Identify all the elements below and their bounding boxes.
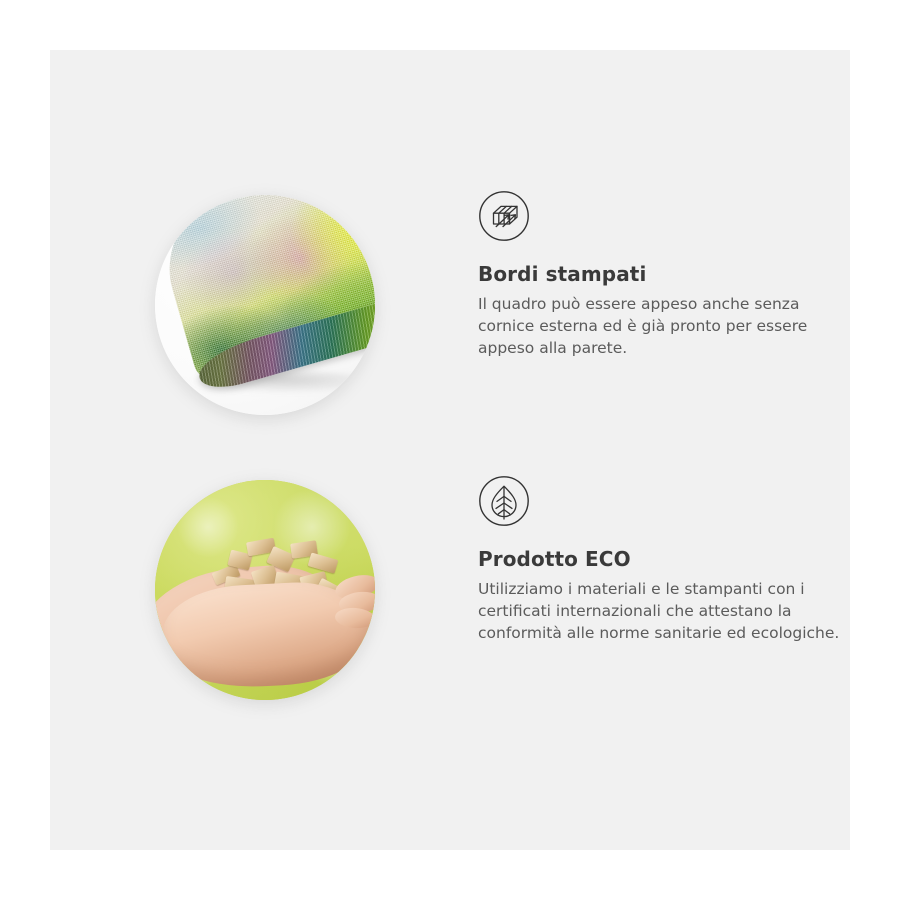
feature-text-column: Bordi stampati Il quadro può essere appe… xyxy=(478,190,850,359)
feature-text-column: Prodotto ECO Utilizziamo i materiali e l… xyxy=(478,475,850,644)
content-panel: Bordi stampati Il quadro può essere appe… xyxy=(50,50,850,850)
feature-printed-edges: Bordi stampati Il quadro può essere appe… xyxy=(150,190,850,450)
feature-description: Il quadro può essere appeso anche senza … xyxy=(478,286,840,359)
feature-eco-product: Prodotto ECO Utilizziamo i materiali e l… xyxy=(150,475,850,750)
feature-title: Prodotto ECO xyxy=(478,527,850,571)
product-feature-infographic: Bordi stampati Il quadro può essere appe… xyxy=(0,0,900,900)
canvas-printed-edge-photo xyxy=(155,195,375,415)
feature-title: Bordi stampati xyxy=(478,242,850,286)
feature-description: Utilizziamo i materiali e le stampanti c… xyxy=(478,571,840,644)
printed-edges-icon xyxy=(478,190,530,242)
leaf-icon xyxy=(478,475,530,527)
wood-chips-in-hands-photo xyxy=(155,480,375,700)
